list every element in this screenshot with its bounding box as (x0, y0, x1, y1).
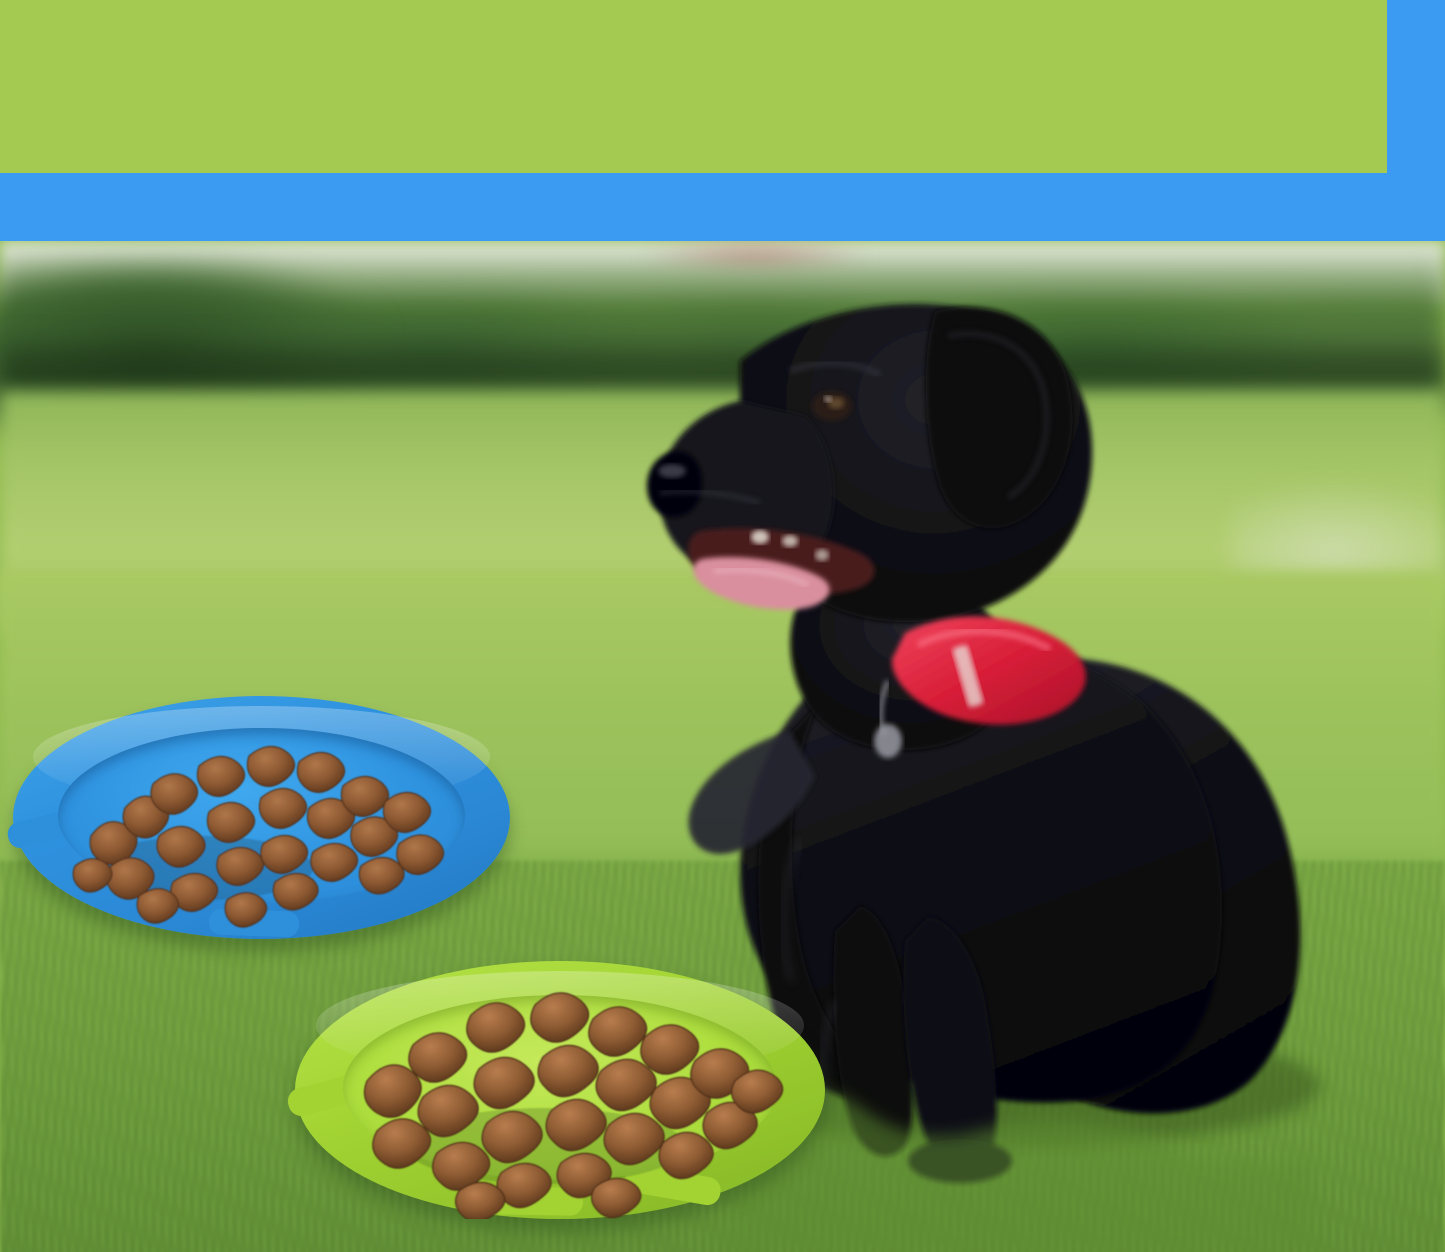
dog-tooth (815, 549, 829, 561)
product-photo (0, 241, 1445, 1252)
product-banner-image: Use As a Simple Food Bowl for Travel or … (0, 0, 1445, 1252)
dog-eye-highlight (824, 396, 832, 402)
blue-bowl[interactable] (13, 696, 510, 939)
dog-tooth (782, 535, 798, 547)
green-bowl-kibble (295, 961, 825, 1219)
dog-tag (874, 724, 902, 758)
banner-blue-bar (0, 173, 1445, 241)
banner-blue-corner (1387, 0, 1445, 173)
dog-nose (647, 451, 702, 517)
blue-bowl-kibble (13, 696, 510, 939)
green-bowl[interactable] (295, 961, 825, 1219)
banner-green-bar (0, 0, 1387, 173)
dog-nose-highlight (658, 464, 686, 478)
dog-tooth (751, 530, 769, 544)
